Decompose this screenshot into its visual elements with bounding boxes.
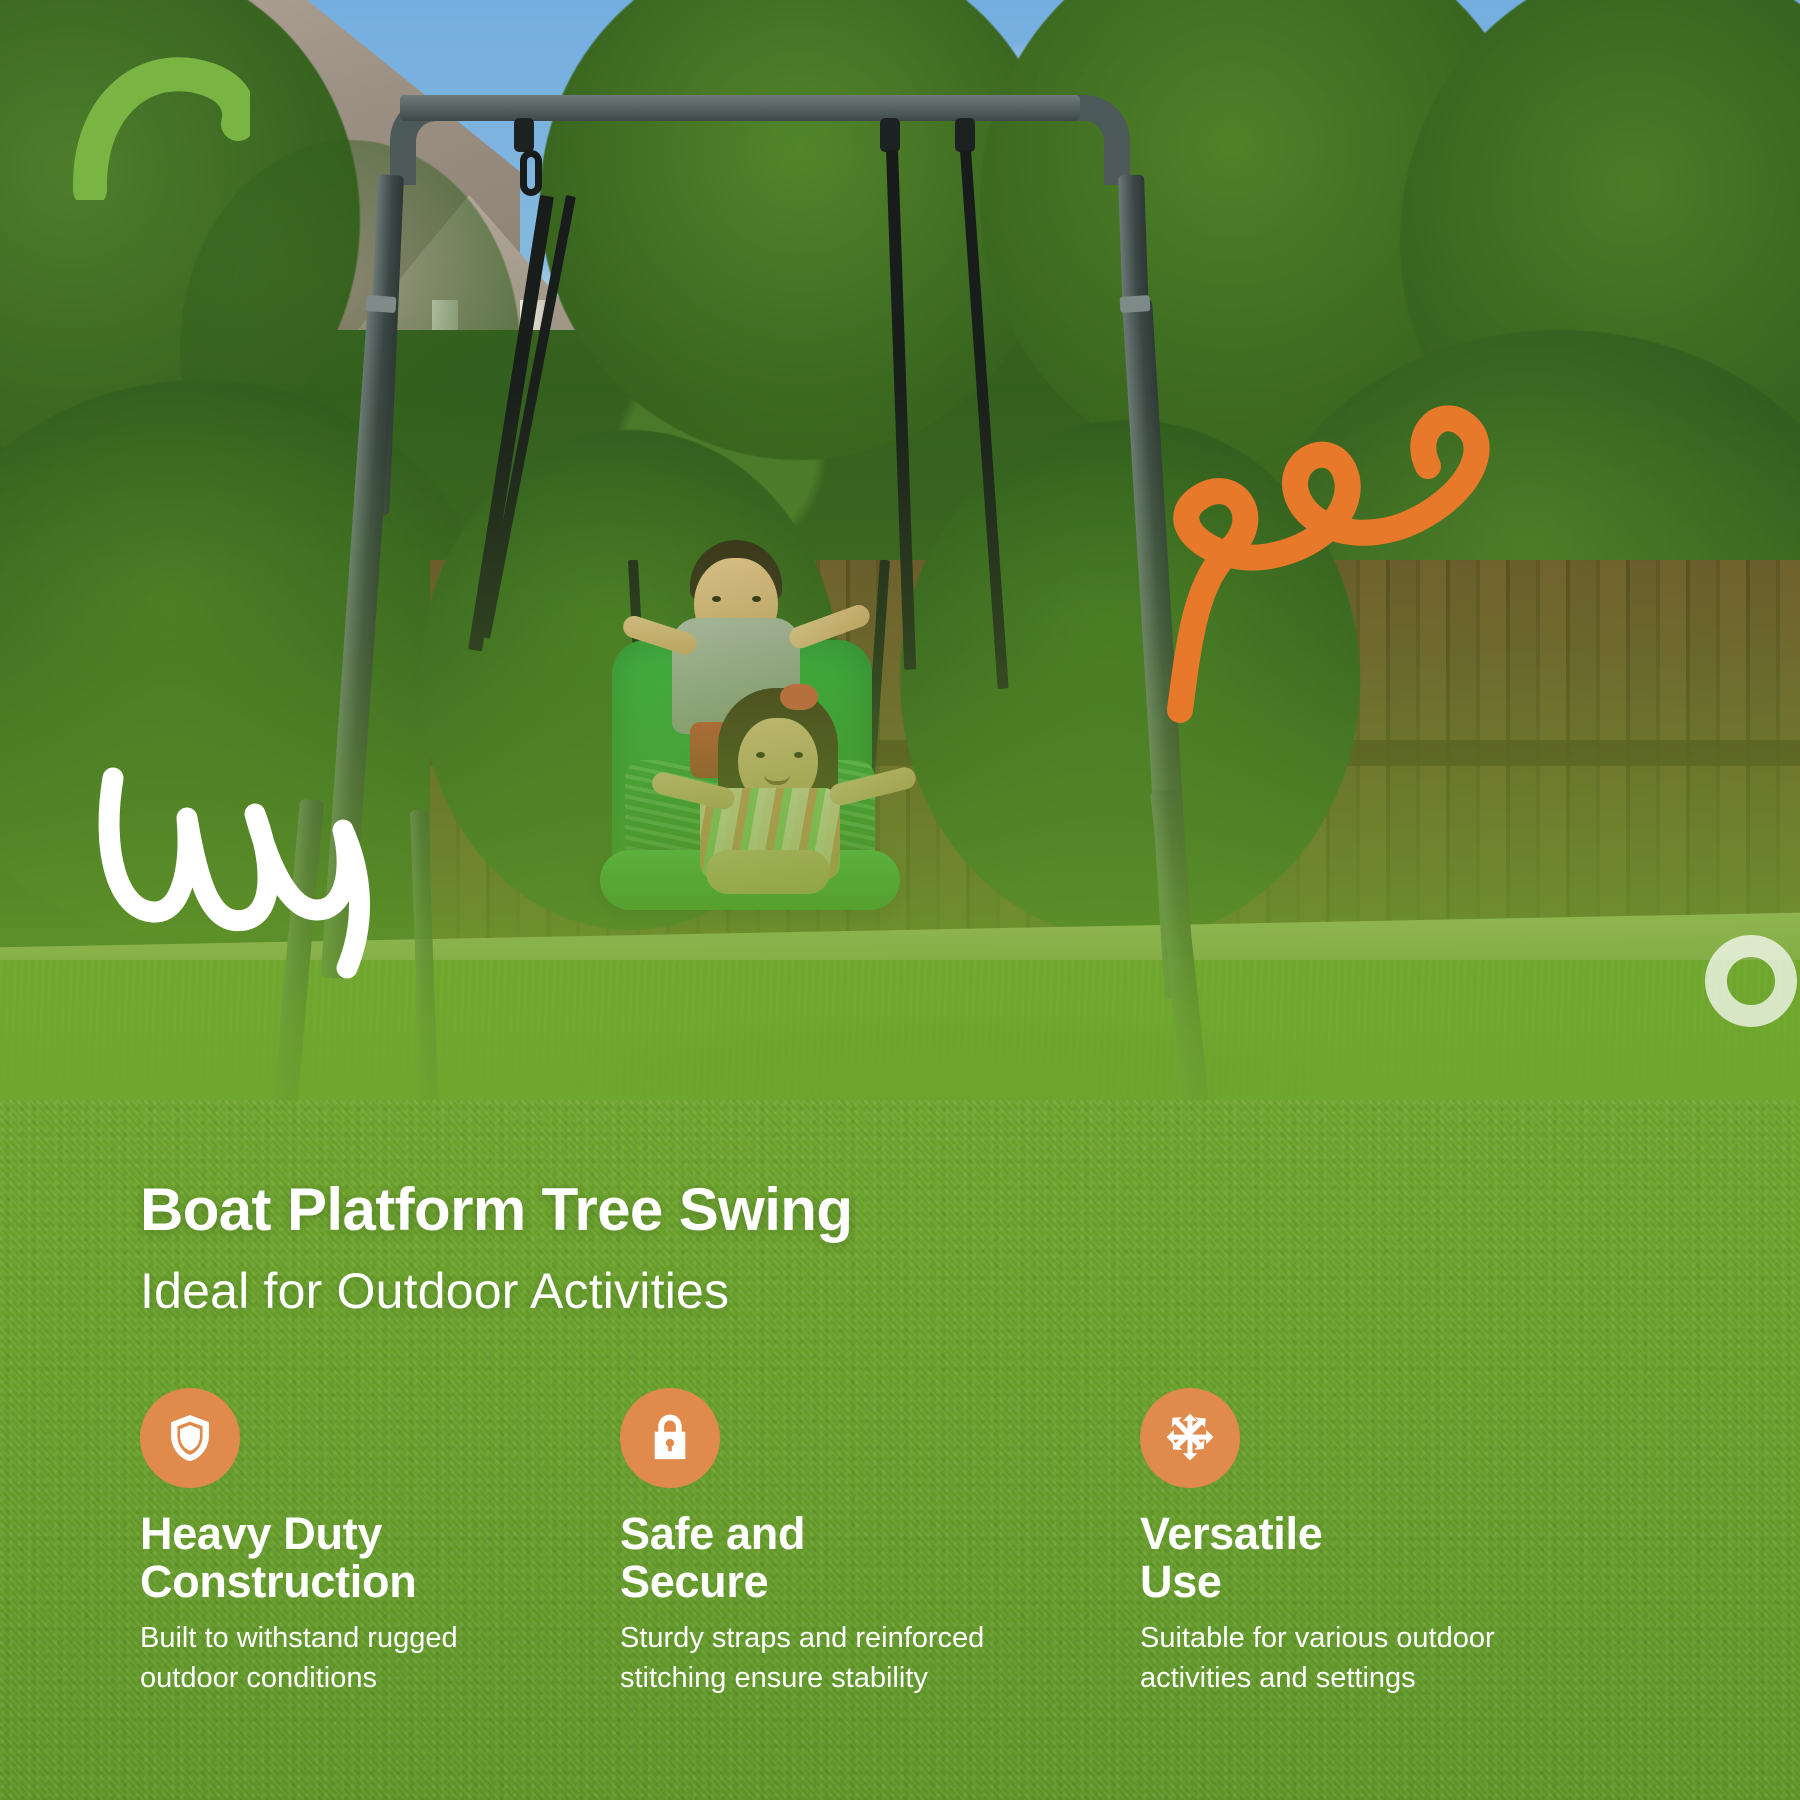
page-subtitle: Ideal for Outdoor Activities [140,1262,729,1320]
girl-eye [794,752,803,758]
feature-title: Safe and Secure [620,1510,1080,1605]
product-infographic: Boat Platform Tree Swing Ideal for Outdo… [0,0,1800,1800]
feature-item-versatile-use: Versatile Use Suitable for various outdo… [1140,1388,1600,1698]
frame-joint [1120,295,1151,313]
feature-item-safe-secure: Safe and Secure Sturdy straps and reinfo… [620,1388,1080,1698]
feature-description: Suitable for various outdoor activities … [1140,1619,1600,1698]
feature-title: Versatile Use [1140,1510,1600,1605]
girl-eye [756,752,765,758]
strap-hook [955,118,975,152]
feature-title: Heavy Duty Construction [140,1510,600,1605]
boy-eye [752,596,761,602]
strap-hook [514,118,534,152]
feature-description: Sturdy straps and reinforced stitching e… [620,1619,1080,1698]
white-ring-doodle [1705,935,1797,1027]
strap-hook [880,118,900,152]
feature-list: Heavy Duty Construction Built to withsta… [0,1388,1800,1748]
girl-legs [706,850,830,894]
product-photo [0,0,1800,1160]
frame-top-bar [400,95,1080,121]
page-title: Boat Platform Tree Swing [140,1175,852,1244]
feature-item-heavy-duty: Heavy Duty Construction Built to withsta… [140,1388,600,1698]
frame-joint [365,295,396,313]
carabiner [520,150,542,196]
feature-badge [140,1388,240,1488]
boy-eye [712,596,721,602]
lock-icon [643,1411,697,1465]
girl-hair-bow [780,684,818,710]
feature-badge [620,1388,720,1488]
four-way-arrows-icon [1163,1411,1217,1465]
tree-canopy [900,420,1360,940]
shield-icon [163,1411,217,1465]
feature-badge [1140,1388,1240,1488]
feature-description: Built to withstand rugged outdoor condit… [140,1619,600,1698]
